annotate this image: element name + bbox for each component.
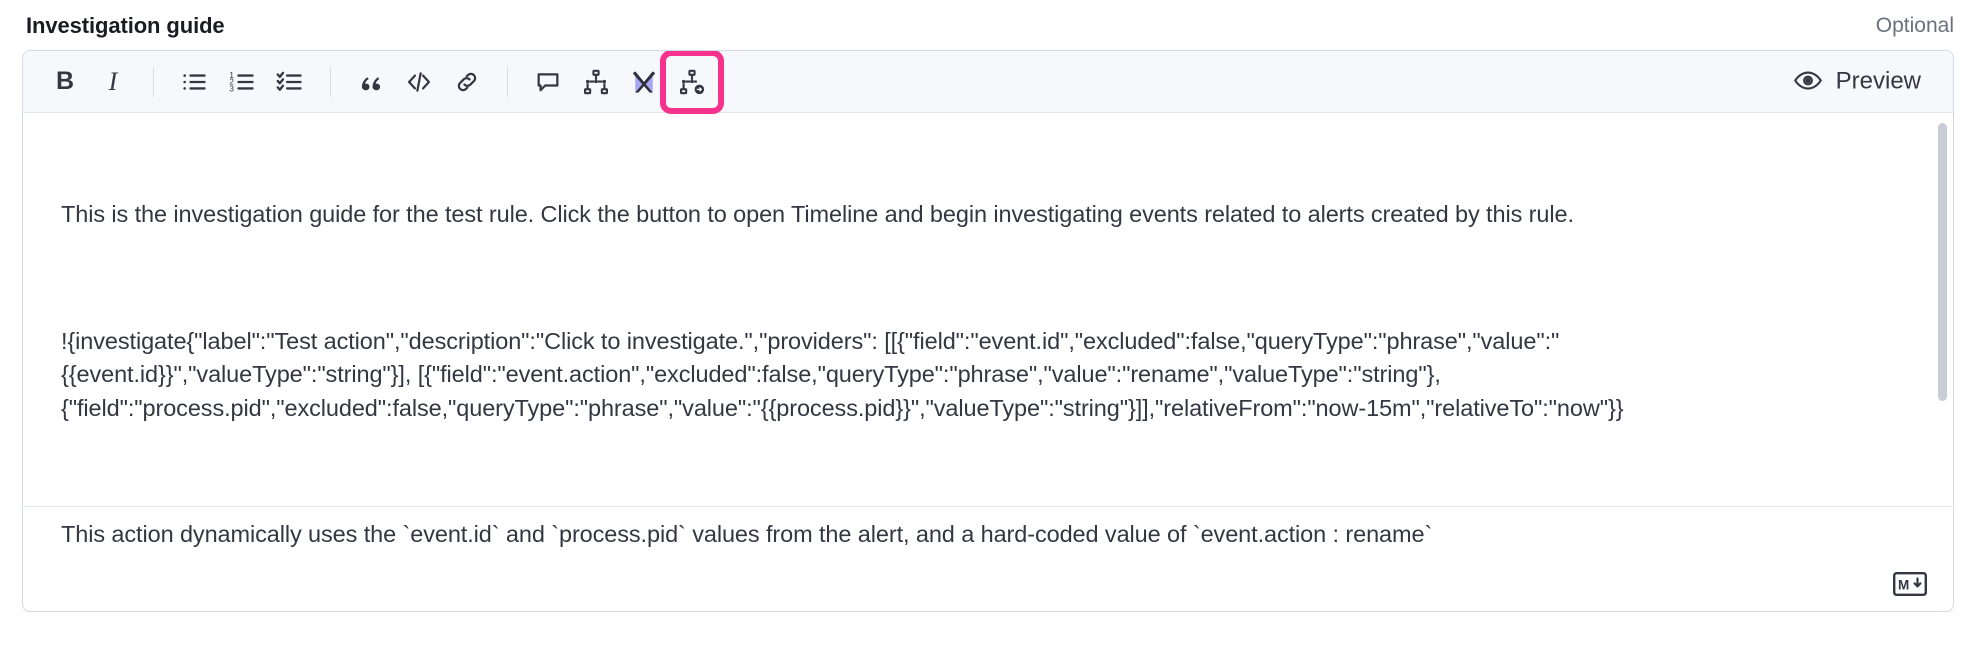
investigation-guide-field: Investigation guide Optional B I (0, 0, 1976, 668)
editor-toolbar: B I (23, 51, 1953, 113)
code-block-button[interactable] (395, 58, 443, 106)
security-insert-group (524, 58, 716, 106)
footer-divider (22, 506, 1954, 507)
page-title: Investigation guide (26, 13, 225, 39)
insert-group (347, 58, 491, 106)
comment-button[interactable] (524, 58, 572, 106)
scrollbar-thumb[interactable] (1938, 123, 1947, 401)
quote-button[interactable] (347, 58, 395, 106)
timeline-insert-icon (678, 68, 706, 96)
numbered-list-button[interactable]: 1 2 3 (218, 58, 266, 106)
link-button[interactable] (443, 58, 491, 106)
insert-investigation-button[interactable] (668, 58, 716, 106)
vertical-scrollbar[interactable] (1938, 123, 1947, 575)
task-list-icon (276, 68, 304, 96)
toolbar-divider (507, 67, 508, 97)
list-group: 1 2 3 (170, 58, 314, 106)
paragraph-intro: This is the investigation guide for the … (61, 198, 1861, 232)
link-icon (453, 68, 481, 96)
quote-icon (357, 68, 385, 96)
preview-button[interactable]: Preview (1787, 61, 1927, 102)
svg-text:3: 3 (229, 84, 234, 93)
markdown-textarea[interactable]: This is the investigation guide for the … (23, 113, 1953, 612)
markdown-icon[interactable]: M (1893, 572, 1927, 596)
svg-text:M: M (1898, 577, 1909, 592)
paragraph-explanation: This action dynamically uses the `event.… (61, 518, 1861, 552)
task-list-button[interactable] (266, 58, 314, 106)
paragraph-investigate-action: !{investigate{"label":"Test action","des… (61, 325, 1861, 426)
osquery-button[interactable] (620, 58, 668, 106)
toolbar-divider (153, 67, 154, 97)
timeline-icon (582, 68, 610, 96)
text-style-group: B I (41, 58, 137, 106)
markdown-editor: B I (22, 50, 1954, 612)
optional-label: Optional (1876, 14, 1954, 38)
preview-label: Preview (1836, 68, 1921, 96)
code-icon (405, 68, 433, 96)
italic-icon: I (109, 69, 118, 95)
osquery-icon (629, 67, 659, 97)
timeline-button[interactable] (572, 58, 620, 106)
toolbar-divider (330, 67, 331, 97)
bulleted-list-icon (180, 68, 208, 96)
eye-icon (1793, 65, 1823, 98)
field-header: Investigation guide Optional (0, 0, 1976, 52)
comment-icon (534, 68, 562, 96)
bulleted-list-button[interactable] (170, 58, 218, 106)
editor-footer: M (22, 556, 1954, 612)
bold-icon: B (56, 69, 74, 94)
numbered-list-icon: 1 2 3 (228, 68, 256, 96)
italic-button[interactable]: I (89, 58, 137, 106)
bold-button[interactable]: B (41, 58, 89, 106)
